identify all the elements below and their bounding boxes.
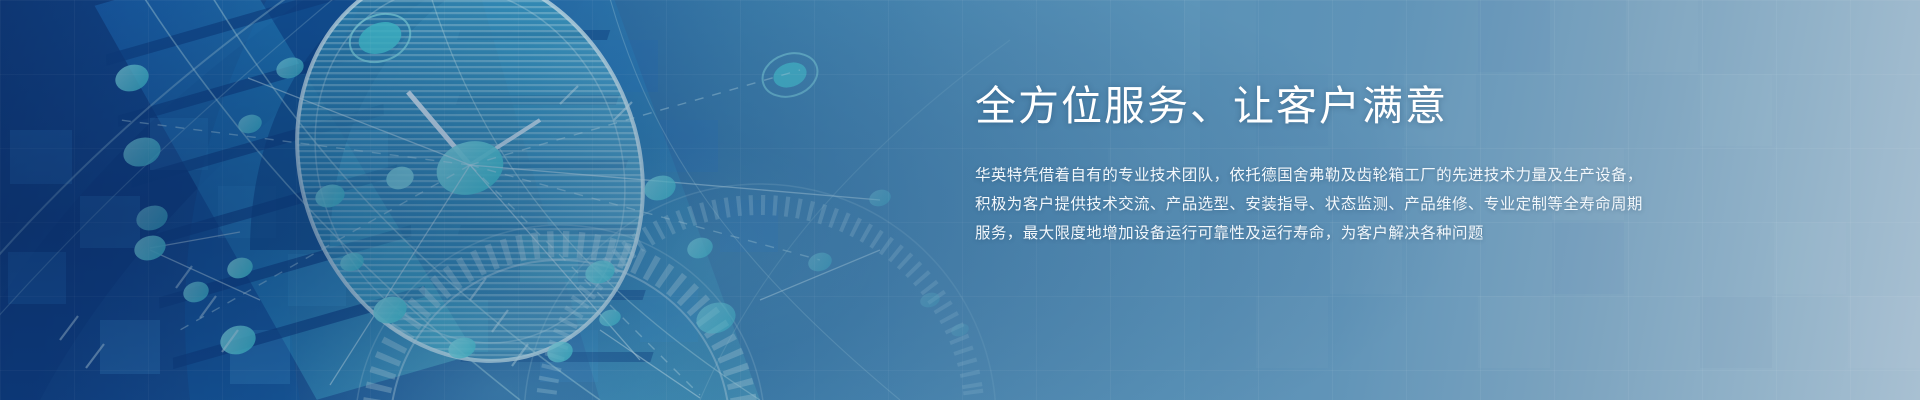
hero-text-block: 全方位服务、让客户满意 华英特凭借着自有的专业技术团队，依托德国舍弗勒及齿轮箱工… bbox=[975, 82, 1675, 248]
hero-description-line-1: 华英特凭借着自有的专业技术团队，依托德国舍弗勒及齿轮箱工厂的先进技术力量及生产设… bbox=[975, 161, 1675, 190]
hero-description-line-3: 服务，最大限度地增加设备运行可靠性及运行寿命，为客户解决各种问题 bbox=[975, 219, 1675, 248]
hero-description: 华英特凭借着自有的专业技术团队，依托德国舍弗勒及齿轮箱工厂的先进技术力量及生产设… bbox=[975, 161, 1675, 248]
hero-description-line-2: 积极为客户提供技术交流、产品选型、安装指导、状态监测、产品维修、专业定制等全寿命… bbox=[975, 190, 1675, 219]
service-hero-banner: 全方位服务、让客户满意 华英特凭借着自有的专业技术团队，依托德国舍弗勒及齿轮箱工… bbox=[0, 0, 1920, 400]
page-title: 全方位服务、让客户满意 bbox=[975, 82, 1675, 131]
